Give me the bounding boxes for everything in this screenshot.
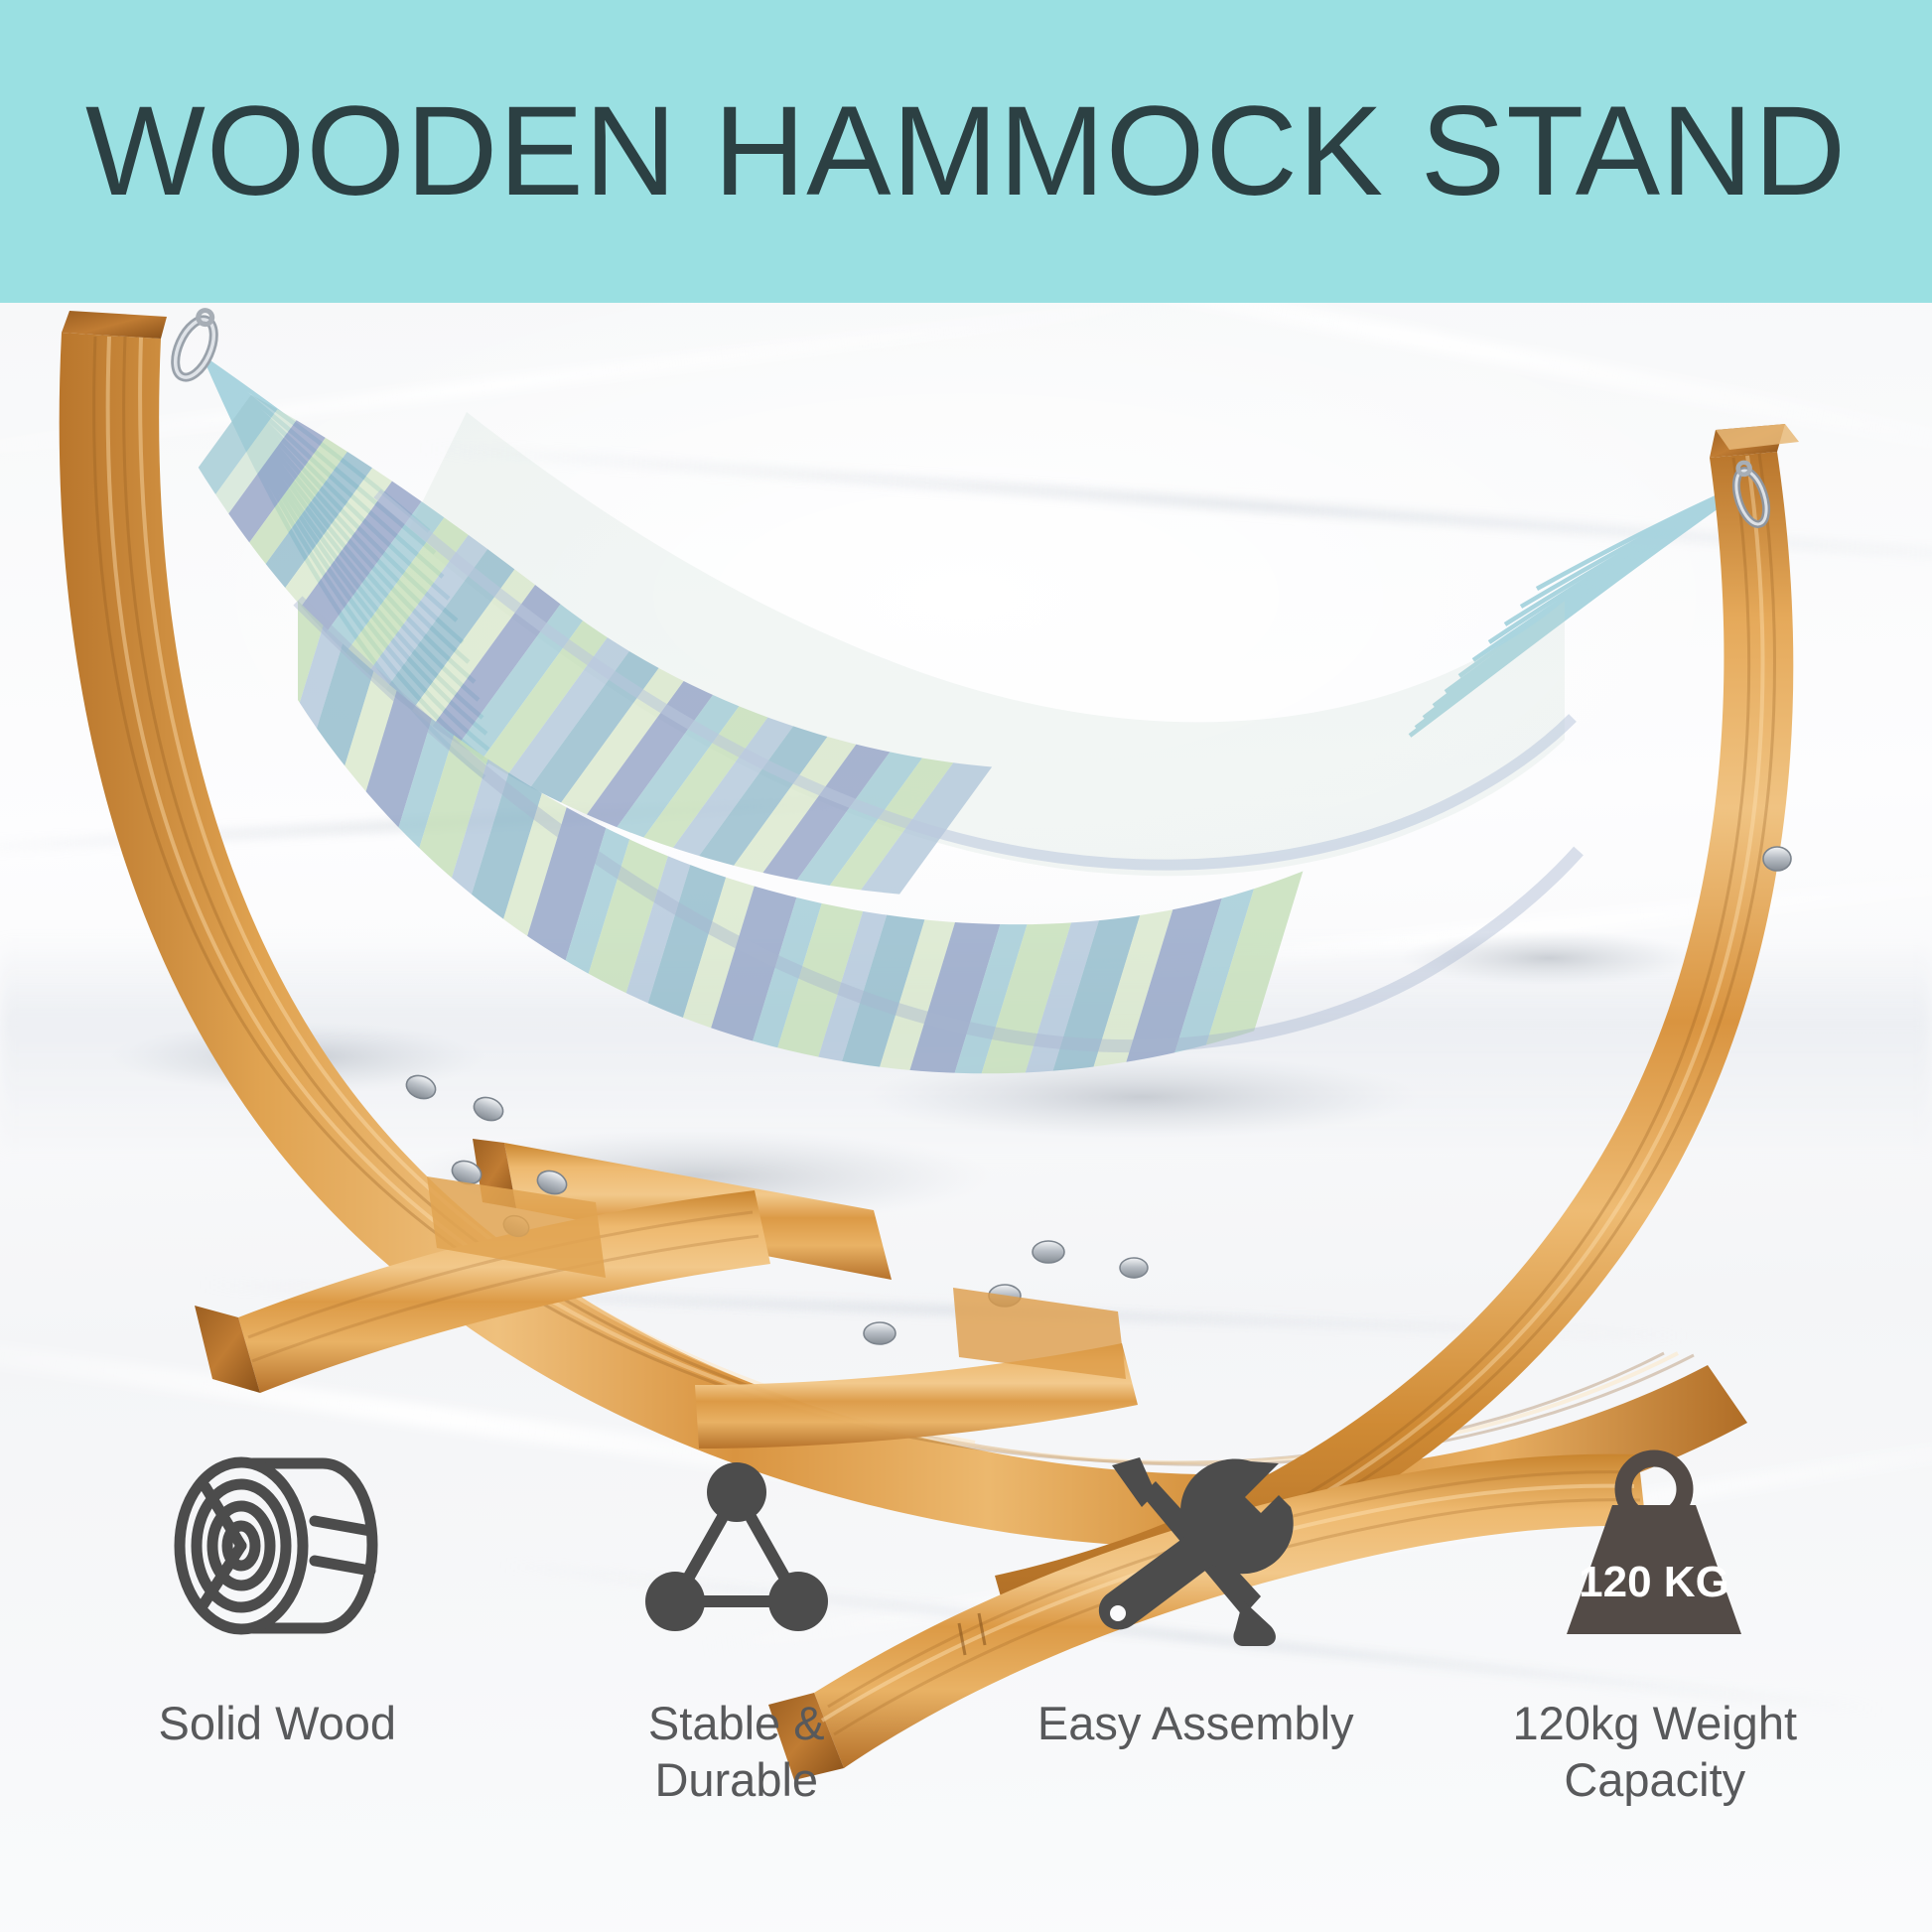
weight-icon: 120 KG (1543, 1445, 1766, 1653)
feature-label: Stable & Durable (573, 1695, 900, 1809)
log-wood-icon (166, 1445, 389, 1653)
page-title: WOODEN HAMMOCK STAND (85, 88, 1847, 215)
product-infographic: WOODEN HAMMOCK STAND (0, 0, 1932, 1932)
weight-badge-text: 120 KG (1579, 1558, 1729, 1606)
right-post-top-face (1716, 424, 1799, 450)
feature-stable-durable: Stable & Durable (507, 1445, 967, 1809)
feature-label: Easy Assembly (1037, 1695, 1354, 1751)
feature-row: Solid Wood Stable & Durable (0, 1445, 1932, 1932)
triangle-nodes-icon (637, 1445, 836, 1653)
arch-joint-block (953, 1288, 1126, 1379)
feature-solid-wood: Solid Wood (48, 1445, 507, 1751)
feature-easy-assembly: Easy Assembly (966, 1445, 1426, 1751)
feature-label: 120kg Weight Capacity (1491, 1695, 1819, 1809)
feature-label: Solid Wood (159, 1695, 397, 1751)
feature-weight-capacity: 120 KG 120kg Weight Capacity (1426, 1445, 1885, 1809)
wrench-screwdriver-icon (1094, 1445, 1298, 1653)
header-banner: WOODEN HAMMOCK STAND (0, 0, 1932, 303)
